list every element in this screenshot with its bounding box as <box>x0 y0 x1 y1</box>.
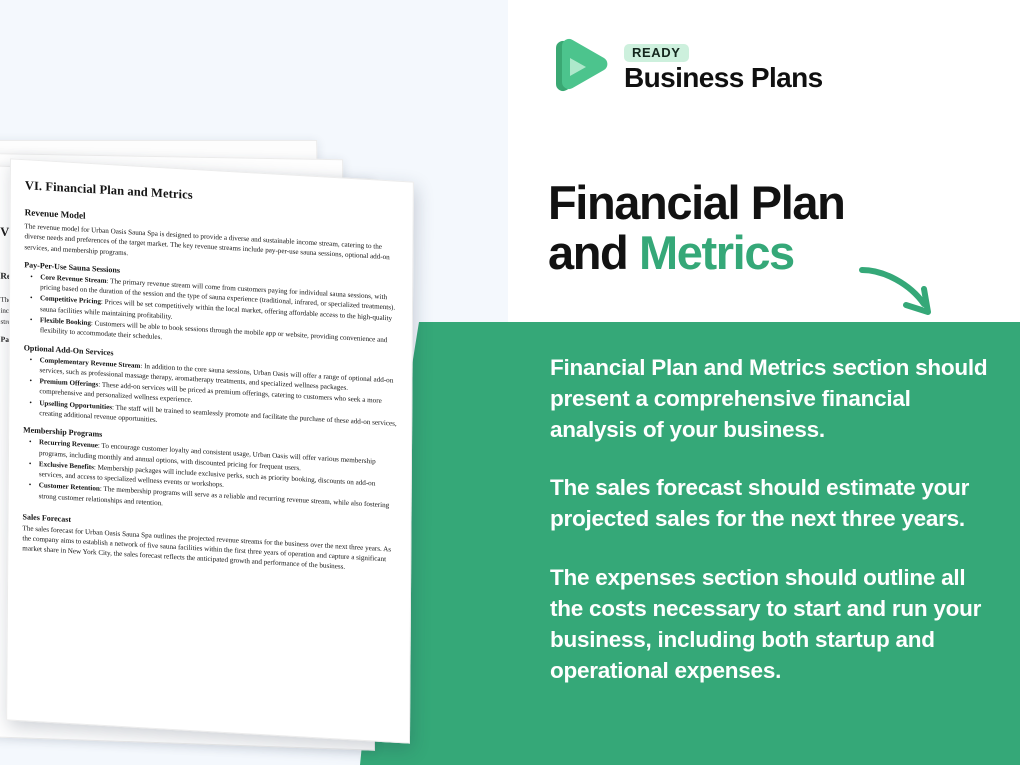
play-triangles-logo-icon <box>548 34 610 104</box>
slide-canvas: V Re The inc stre Pay Op M S V Re The in… <box>0 0 1020 765</box>
bullet-term: Exclusive Benefits <box>39 460 94 471</box>
bullet-term: Customer Retention <box>39 481 100 493</box>
headline-line-1: Financial Plan <box>548 178 978 228</box>
ready-badge: READY <box>624 44 689 63</box>
panel-paragraph-1: Financial Plan and Metrics section shoul… <box>550 353 1002 445</box>
brand-lockup: READY Business Plans <box>548 34 823 104</box>
document-content: VI. Financial Plan and Metrics Revenue M… <box>22 178 399 578</box>
bullet-term: Flexible Booking <box>40 316 91 327</box>
headline-accent: Metrics <box>639 226 794 279</box>
brand-name: Business Plans <box>624 63 823 94</box>
document-title: VI. Financial Plan and Metrics <box>25 178 399 215</box>
peek-line2-frag-1: inc <box>0 307 9 315</box>
brand-text-block: READY Business Plans <box>624 44 823 94</box>
panel-description: Financial Plan and Metrics section shoul… <box>550 353 1002 686</box>
bullet-term: Recurring Revenue <box>39 438 98 449</box>
panel-paragraph-3: The expenses section should outline all … <box>550 563 1002 686</box>
panel-paragraph-2: The sales forecast should estimate your … <box>550 473 1002 535</box>
peek-title-frag-1: V <box>0 225 9 240</box>
bullet-term: Competitive Pricing <box>40 295 101 307</box>
document-page-front: VI. Financial Plan and Metrics Revenue M… <box>6 158 414 743</box>
curved-arrow-down-right-icon <box>858 262 944 320</box>
headline-prefix: and <box>548 226 639 279</box>
document-stack: V Re The inc stre Pay Op M S V Re The in… <box>0 130 520 750</box>
